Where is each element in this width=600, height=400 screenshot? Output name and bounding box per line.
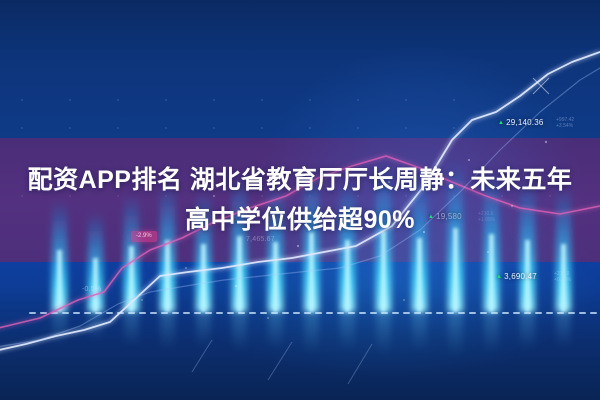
data-label-value: 29,140.36 bbox=[506, 118, 543, 127]
headline-overlay: 配资APP排名 湖北省教育厅厅长周静：未来五年 高中学位供给超90% bbox=[0, 160, 600, 240]
headline-line-1: 配资APP排名 湖北省教育厅厅长周静：未来五年 bbox=[0, 160, 600, 200]
banner-canvas: ▲29,140.36 +997.42 +3.54% ▲19,580 +210.6… bbox=[0, 0, 600, 400]
data-label-value-low-sub: +21.18 +0.58% bbox=[554, 271, 571, 283]
data-label-value: 3,690.47 bbox=[504, 272, 537, 281]
data-label-value-high: ▲29,140.36 bbox=[498, 118, 544, 127]
data-label-value-low: ▲3,690.47 bbox=[496, 272, 537, 281]
background-band-blue bbox=[0, 262, 600, 400]
data-label-percent-faint: -0.5% bbox=[82, 286, 101, 293]
up-arrow-icon: ▲ bbox=[496, 274, 502, 280]
headline-line-2: 高中学位供给超90% bbox=[0, 200, 600, 240]
data-label-value-high-sub: +997.42 +3.54% bbox=[556, 117, 574, 129]
up-arrow-icon: ▲ bbox=[498, 120, 504, 126]
